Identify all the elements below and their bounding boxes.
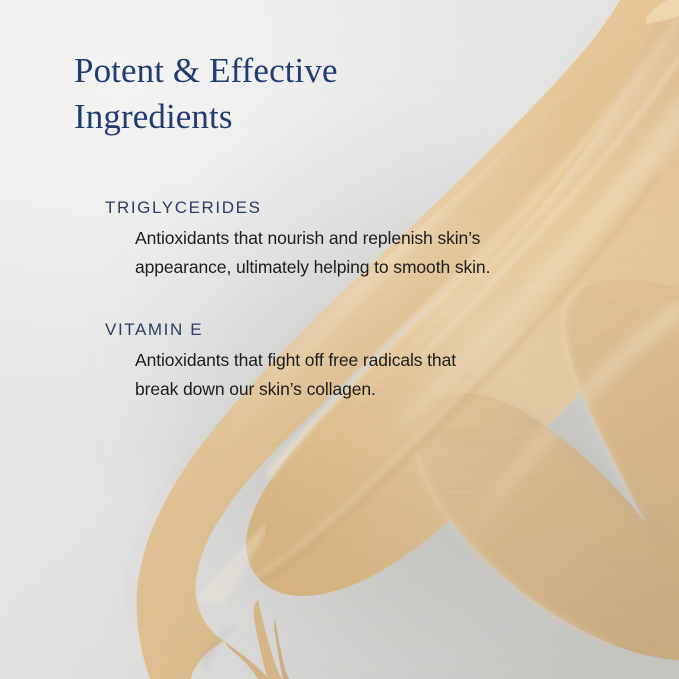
page-title: Potent & Effective Ingredients bbox=[74, 48, 504, 139]
ingredient-name-triglycerides: TRIGLYCERIDES bbox=[105, 198, 625, 218]
ingredient-name-vitamin-e: VITAMIN E bbox=[105, 320, 625, 340]
description-line: Antioxidants that nourish and replenish … bbox=[135, 224, 625, 253]
ingredient-description-vitamin-e: Antioxidants that fight off free radical… bbox=[135, 346, 625, 405]
ingredient-description-triglycerides: Antioxidants that nourish and replenish … bbox=[135, 224, 625, 283]
ingredient-block-triglycerides: TRIGLYCERIDES Antioxidants that nourish … bbox=[105, 198, 625, 283]
ingredient-block-vitamin-e: VITAMIN E Antioxidants that fight off fr… bbox=[105, 320, 625, 405]
description-line: break down our skin’s collagen. bbox=[135, 375, 625, 404]
product-ingredients-graphic: Potent & Effective Ingredients TRIGLYCER… bbox=[0, 0, 679, 679]
description-line: appearance, ultimately helping to smooth… bbox=[135, 253, 625, 282]
description-line: Antioxidants that fight off free radical… bbox=[135, 346, 625, 375]
